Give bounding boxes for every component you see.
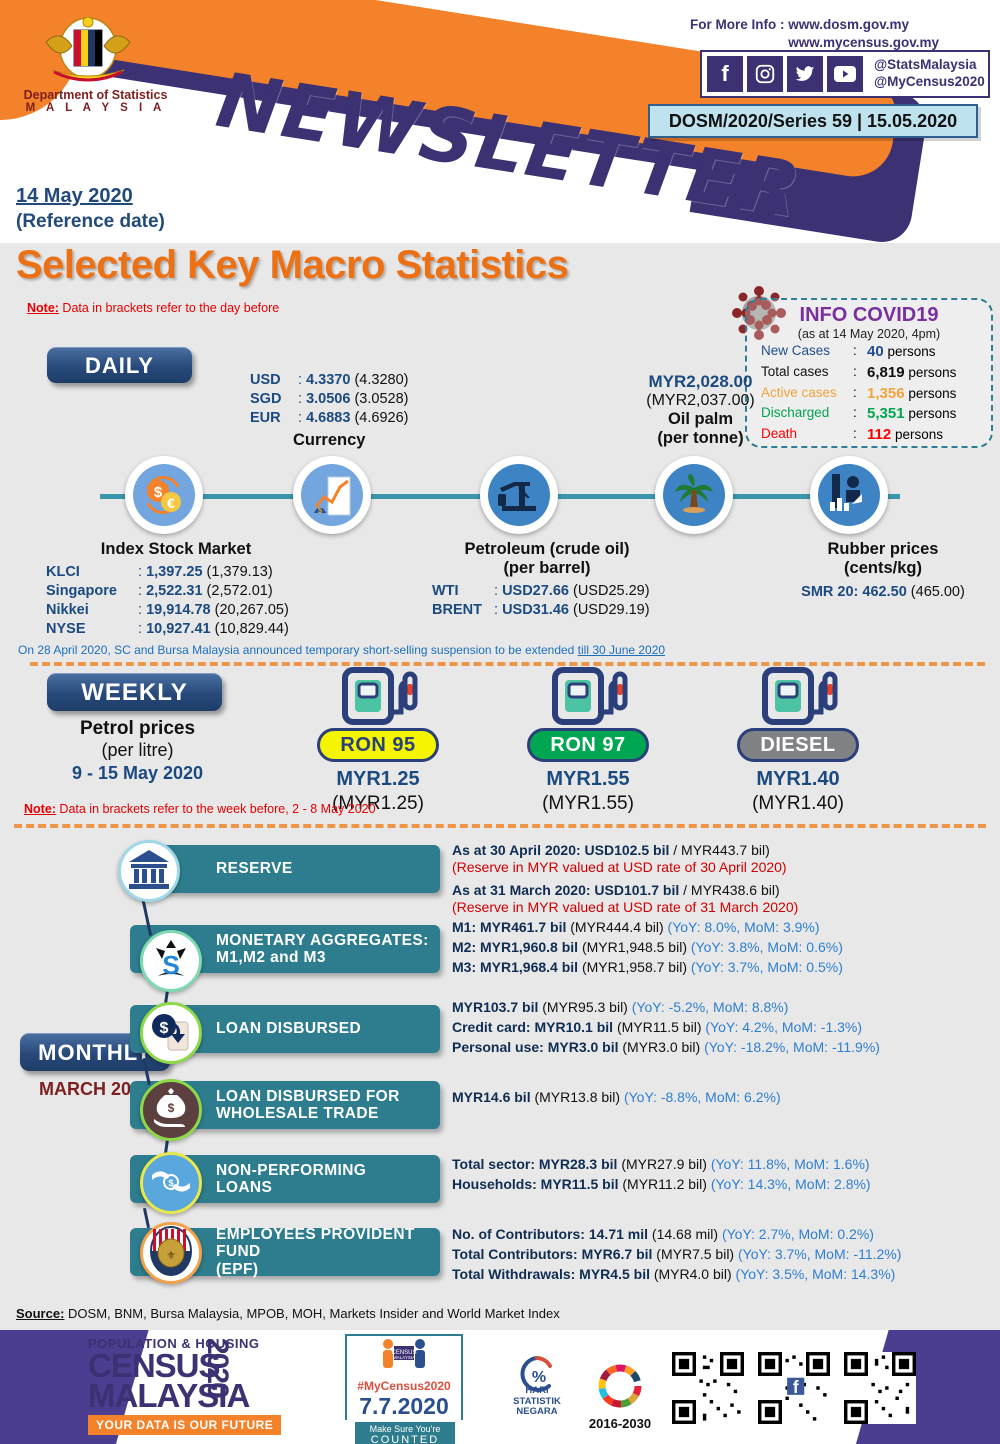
fuel-prev: (MYR1.55) bbox=[523, 793, 653, 815]
petrol-period: 9 - 15 May 2020 bbox=[40, 763, 235, 784]
monthly-value-main: Personal use: MYR3.0 bil bbox=[452, 1039, 619, 1055]
covid-row-colon: : bbox=[853, 385, 867, 404]
covid-row-value: 40 persons bbox=[867, 343, 935, 362]
daily-note-text: Data in brackets refer to the day before bbox=[59, 301, 279, 315]
monthly-value-line: (Reserve in MYR valued at USD rate of 31… bbox=[452, 898, 798, 918]
stat-label: EUR bbox=[250, 409, 298, 428]
monthly-value-yoy: (YoY: 3.5%, MoM: 14.3%) bbox=[736, 1266, 896, 1282]
stat-colon: : bbox=[138, 621, 146, 637]
monthly-value-main: MYR103.7 bil bbox=[452, 999, 538, 1015]
stat-value: USD27.66 bbox=[502, 583, 569, 599]
oil-palm-caption-2: (per tonne) bbox=[613, 429, 788, 448]
stat-label: SGD bbox=[250, 390, 298, 409]
monthly-value-main: As at 30 April 2020: USD102.5 bil bbox=[452, 842, 669, 858]
non-performing-loans-icon: $ bbox=[148, 1158, 194, 1209]
palm-tree-node bbox=[655, 456, 733, 534]
monthly-value-yoy: (YoY: 2.7%, MoM: 0.2%) bbox=[722, 1226, 874, 1242]
stat-row: EUR: 4.6883 (4.6926) bbox=[250, 409, 408, 428]
covid-row: Discharged:5,351 persons bbox=[761, 405, 991, 424]
monthly-value-main: M1: MYR461.7 bil bbox=[452, 919, 566, 935]
oil-rig-icon bbox=[488, 464, 550, 526]
monthly-value-prev: (MYR27.9 bil) bbox=[621, 1156, 707, 1172]
facebook-icon[interactable]: f bbox=[707, 56, 743, 92]
monthly-value-tail: / MYR443.7 bil) bbox=[669, 842, 769, 858]
census-people-icon: CENSUS MALAYSIA bbox=[374, 1336, 434, 1372]
monthly-value-line: Credit card: MYR10.1 bil (MYR11.5 bil) (… bbox=[452, 1018, 880, 1038]
monthly-item-label-2: M1,M2 and M3 bbox=[216, 949, 326, 966]
percent-swirl-icon: % bbox=[513, 1354, 561, 1394]
index-stock-market-rows: KLCI: 1,397.25 (1,379.13)Singapore: 2,52… bbox=[46, 563, 306, 640]
page-header: NEWSLETTER Department of Statistics M A … bbox=[0, 0, 1000, 243]
social-handles: @StatsMalaysia @MyCensus2020 bbox=[874, 57, 985, 91]
stat-label: Singapore bbox=[46, 582, 138, 601]
covid-row-unit: persons bbox=[908, 365, 956, 380]
monthly-value-note: (Reserve in MYR valued at USD rate of 31… bbox=[452, 899, 798, 915]
monthly-value-line: M1: MYR461.7 bil (MYR444.4 bil) (YoY: 8.… bbox=[452, 918, 843, 938]
dosm-caption: Department of Statistics M A L A Y S I A bbox=[8, 88, 183, 116]
monthly-value-line: (Reserve in MYR valued at USD rate of 30… bbox=[452, 858, 798, 878]
covid-row-value: 6,819 persons bbox=[867, 364, 956, 383]
monthly-value-line: Total Withdrawals: MYR4.5 bil (MYR4.0 bi… bbox=[452, 1265, 901, 1285]
covid-row-value: 112 persons bbox=[867, 426, 943, 445]
short-selling-link[interactable]: till 30 June 2020 bbox=[578, 643, 665, 657]
rubber-tapper-node bbox=[810, 456, 888, 534]
dosm-url[interactable]: www.dosm.gov.my bbox=[788, 17, 909, 32]
weekly-title-block: Petrol prices (per litre) 9 - 15 May 202… bbox=[40, 718, 235, 784]
rubber-prev: (465.00) bbox=[911, 584, 965, 600]
palm-tree-icon bbox=[663, 464, 725, 526]
stat-value: 4.3370 bbox=[306, 372, 350, 388]
bank-building-icon-node bbox=[118, 840, 180, 902]
stat-row: WTI: USD27.66 (USD25.29) bbox=[432, 582, 662, 601]
daily-badge: DAILY bbox=[47, 347, 192, 383]
petroleum-rows: WTI: USD27.66 (USD25.29)BRENT: USD31.46 … bbox=[432, 582, 662, 620]
sdg-logo: 2016-2030 bbox=[580, 1360, 660, 1431]
stat-colon: : bbox=[494, 602, 502, 618]
svg-text:$: $ bbox=[168, 1101, 175, 1115]
monthly-value-main: Households: MYR11.5 bil bbox=[452, 1176, 618, 1192]
loan-disbursed-icon-node: $ bbox=[140, 1002, 202, 1064]
fuel-card: RON 97MYR1.55(MYR1.55) bbox=[523, 666, 653, 815]
covid-title: INFO COVID19 bbox=[747, 304, 991, 327]
money-supply-icon-node: S bbox=[140, 930, 202, 992]
monthly-value-line: No. of Contributors: 14.71 mil (14.68 mi… bbox=[452, 1225, 901, 1245]
svg-text:f: f bbox=[793, 1377, 799, 1397]
svg-text:MALAYSIA: MALAYSIA bbox=[393, 1355, 415, 1360]
index-stock-market-block: Index Stock Market KLCI: 1,397.25 (1,379… bbox=[46, 540, 306, 640]
fuel-price: MYR1.40 bbox=[733, 768, 863, 791]
short-selling-text: On 28 April 2020, SC and Bursa Malaysia … bbox=[18, 643, 578, 657]
monthly-item-label-1: MONETARY AGGREGATES: bbox=[216, 932, 429, 949]
monthly-value-prev: (MYR1,948.5 bil) bbox=[582, 939, 687, 955]
covid-row-value: 5,351 persons bbox=[867, 405, 956, 424]
monthly-value-note: (Reserve in MYR valued at USD rate of 30… bbox=[452, 859, 787, 875]
mycensus-date: 7.7.2020 bbox=[347, 1393, 461, 1420]
stat-value: 2,522.31 bbox=[146, 583, 202, 599]
stat-value: 3.0506 bbox=[306, 391, 350, 407]
monthly-item-label-2: WHOLESALE TRADE bbox=[216, 1105, 379, 1122]
fuel-card: DIESELMYR1.40(MYR1.40) bbox=[733, 666, 863, 815]
source-line: Source: DOSM, BNM, Bursa Malaysia, MPOB,… bbox=[16, 1306, 560, 1321]
census-tagline: YOUR DATA IS OUR FUTURE bbox=[88, 1415, 281, 1435]
monthly-item-values: MYR103.7 bil (MYR95.3 bil) (YoY: -5.2%, … bbox=[452, 998, 880, 1058]
covid-row-unit: persons bbox=[887, 344, 935, 359]
monthly-value-prev: (MYR3.0 bil) bbox=[622, 1039, 700, 1055]
bank-building-icon bbox=[126, 846, 172, 897]
covid-row-colon: : bbox=[853, 343, 867, 362]
monthly-value-yoy: (YoY: 3.7%, MoM: -11.2%) bbox=[738, 1246, 901, 1262]
svg-text:$: $ bbox=[154, 484, 163, 501]
oil-rig-node bbox=[480, 456, 558, 534]
monthly-value-main: Total Withdrawals: MYR4.5 bil bbox=[452, 1266, 650, 1282]
monthly-value-yoy: (YoY: -8.8%, MoM: 6.2%) bbox=[624, 1089, 781, 1105]
fuel-badge: DIESEL bbox=[737, 728, 859, 762]
stat-row: SGD: 3.0506 (3.0528) bbox=[250, 390, 408, 409]
monthly-item-label-2: LOANS bbox=[216, 1179, 272, 1196]
stat-prev: (2,572.01) bbox=[207, 583, 273, 599]
monthly-item-values: MYR14.6 bil (MYR13.8 bil) (YoY: -8.8%, M… bbox=[452, 1088, 781, 1108]
mycensus-logo: CENSUS MALAYSIA #MyCensus2020 7.7.2020 bbox=[345, 1334, 463, 1420]
monthly-value-tail: / MYR438.6 bil) bbox=[679, 882, 779, 898]
source-text: DOSM, BNM, Bursa Malaysia, MPOB, MOH, Ma… bbox=[64, 1306, 559, 1321]
monthly-value-line: Total Contributors: MYR6.7 bil (MYR7.5 b… bbox=[452, 1245, 901, 1265]
monthly-value-yoy: (YoY: 11.8%, MoM: 1.6%) bbox=[711, 1156, 870, 1172]
oil-palm-value: MYR2,028.00 bbox=[613, 372, 788, 392]
monthly-item-values: M1: MYR461.7 bil (MYR444.4 bil) (YoY: 8.… bbox=[452, 918, 843, 978]
instagram-icon[interactable] bbox=[747, 56, 783, 92]
social-links-box: f @StatsMalaysia @MyCensus2020 bbox=[700, 50, 990, 98]
currency-block: USD: 4.3370 (4.3280)SGD: 3.0506 (3.0528)… bbox=[250, 371, 408, 450]
monthly-value-line: MYR103.7 bil (MYR95.3 bil) (YoY: -5.2%, … bbox=[452, 998, 880, 1018]
loan-disbursed-icon: $ bbox=[148, 1008, 194, 1059]
daily-note: Note: Data in brackets refer to the day … bbox=[27, 301, 279, 315]
currency-rows: USD: 4.3370 (4.3280)SGD: 3.0506 (3.0528)… bbox=[250, 371, 408, 428]
svg-text:$: $ bbox=[160, 1020, 169, 1037]
fuel-pump-icon bbox=[523, 666, 653, 728]
reference-date-label: (Reference date) bbox=[16, 211, 165, 233]
fuel-pump-icon bbox=[313, 666, 443, 728]
monthly-value-main: Credit card: MYR10.1 bil bbox=[452, 1019, 613, 1035]
mycensus-url[interactable]: www.mycensus.gov.my bbox=[788, 35, 939, 50]
stat-row: Nikkei: 19,914.78 (20,267.05) bbox=[46, 601, 306, 620]
counted-banner: Make Sure You're COUNTED bbox=[355, 1422, 455, 1444]
weekly-note: Note: Data in brackets refer to the week… bbox=[24, 802, 376, 816]
stat-colon: : bbox=[298, 372, 306, 388]
monthly-value-main: Total Contributors: MYR6.7 bil bbox=[452, 1246, 652, 1262]
stat-colon: : bbox=[138, 602, 146, 618]
monthly-value-prev: (MYR4.0 bil) bbox=[654, 1266, 732, 1282]
monthly-item-values: As at 30 April 2020: USD102.5 bil / MYR4… bbox=[452, 838, 798, 918]
stat-prev: (4.6926) bbox=[354, 410, 408, 426]
daily-note-label: Note: bbox=[27, 301, 59, 315]
monthly-value-prev: (MYR444.4 bil) bbox=[570, 919, 663, 935]
svg-text:€: € bbox=[167, 495, 175, 511]
currency-exchange-icon: $ € bbox=[133, 464, 195, 526]
monthly-value-yoy: (YoY: -5.2%, MoM: 8.8%) bbox=[632, 999, 789, 1015]
series-badge: DOSM/2020/Series 59 | 15.05.2020 bbox=[648, 104, 978, 138]
money-supply-icon: S bbox=[148, 936, 194, 987]
monthly-item-label-1: EMPLOYEES PROVIDENT FUND bbox=[216, 1226, 415, 1260]
monthly-value-line: MYR14.6 bil (MYR13.8 bil) (YoY: -8.8%, M… bbox=[452, 1088, 781, 1108]
qr-code-facebook-icon[interactable]: f bbox=[758, 1352, 830, 1424]
currency-exchange-node: $ € bbox=[125, 456, 203, 534]
covid-row-value: 1,356 persons bbox=[867, 385, 956, 404]
covid-row-colon: : bbox=[853, 426, 867, 445]
more-info-label: For More Info : bbox=[690, 17, 785, 32]
svg-text:$: $ bbox=[168, 1178, 173, 1188]
covid-subtitle: (as at 14 May 2020, 4pm) bbox=[747, 327, 991, 341]
fuel-pump-icon bbox=[733, 666, 863, 728]
monthly-value-yoy: (YoY: 3.7%, MoM: 0.5%) bbox=[691, 959, 843, 975]
stat-prev: (10,829.44) bbox=[215, 621, 289, 637]
non-performing-loans-icon-node: $ bbox=[140, 1152, 202, 1214]
fuel-card: RON 95MYR1.25(MYR1.25) bbox=[313, 666, 443, 815]
monthly-value-line: Households: MYR11.5 bil (MYR11.2 bil) (Y… bbox=[452, 1175, 871, 1195]
covid-row: Total cases:6,819 persons bbox=[761, 364, 991, 383]
epf-logo-icon-node: ⚜ bbox=[140, 1222, 202, 1284]
stat-label: WTI bbox=[432, 582, 494, 601]
fuel-badge: RON 97 bbox=[527, 728, 649, 762]
handle-statsmalaysia: @StatsMalaysia bbox=[874, 57, 985, 74]
stat-label: Nikkei bbox=[46, 601, 138, 620]
qr-code-dosm-icon[interactable] bbox=[672, 1352, 744, 1424]
covid-row-unit: persons bbox=[895, 427, 943, 442]
monthly-value-prev: (MYR95.3 bil) bbox=[542, 999, 628, 1015]
stat-value: USD31.46 bbox=[502, 602, 569, 618]
weekly-note-text: Data in brackets refer to the week befor… bbox=[56, 802, 376, 816]
svg-text:⚜: ⚜ bbox=[166, 1250, 176, 1262]
monthly-value-yoy: (YoY: 4.2%, MoM: -1.3%) bbox=[705, 1019, 862, 1035]
rubber-caption-1: Rubber prices bbox=[768, 540, 998, 559]
weekly-note-label: Note: bbox=[24, 802, 56, 816]
monthly-value-main: Total sector: MYR28.3 bil bbox=[452, 1156, 617, 1172]
stock-chart-node: $ bbox=[293, 456, 371, 534]
stat-prev: (3.0528) bbox=[354, 391, 408, 407]
stat-row: NYSE: 10,927.41 (10,829.44) bbox=[46, 620, 306, 639]
epf-logo-icon: ⚜ bbox=[148, 1226, 194, 1281]
money-bag-hand-icon: $ bbox=[148, 1085, 194, 1136]
stat-prev: (4.3280) bbox=[354, 372, 408, 388]
stat-value: 4.6883 bbox=[306, 410, 350, 426]
qr-code-mycensus-icon[interactable] bbox=[844, 1352, 916, 1424]
stat-row: Singapore: 2,522.31 (2,572.01) bbox=[46, 582, 306, 601]
stat-prev: (USD25.29) bbox=[573, 583, 650, 599]
stat-row: BRENT: USD31.46 (USD29.19) bbox=[432, 601, 662, 620]
page-footer: POPULATION & HOUSING CENSUS MALAYSIA YOU… bbox=[0, 1330, 1000, 1444]
stat-colon: : bbox=[298, 410, 306, 426]
monthly-value-prev: (MYR7.5 bil) bbox=[656, 1246, 734, 1262]
covid-row-colon: : bbox=[853, 364, 867, 383]
fuel-badge: RON 95 bbox=[317, 728, 439, 762]
petroleum-caption-2: (per barrel) bbox=[432, 559, 662, 578]
monthly-value-prev: (14.68 mil) bbox=[652, 1226, 718, 1242]
svg-text:S: S bbox=[162, 950, 179, 980]
covid-row-unit: persons bbox=[908, 386, 956, 401]
monthly-value-prev: (MYR1,958.7 bil) bbox=[582, 959, 687, 975]
malaysia-coat-of-arms-icon bbox=[28, 8, 148, 96]
fuel-prev: (MYR1.40) bbox=[733, 793, 863, 815]
page-title: Selected Key Macro Statistics bbox=[16, 243, 568, 288]
rubber-value: SMR 20: 462.50 bbox=[801, 584, 907, 600]
twitter-icon[interactable] bbox=[787, 56, 823, 92]
petrol-unit: (per litre) bbox=[40, 740, 235, 761]
currency-caption: Currency bbox=[250, 431, 408, 450]
monthly-value-main: As at 31 March 2020: USD101.7 bil bbox=[452, 882, 679, 898]
stat-colon: : bbox=[138, 583, 146, 599]
mycensus-hashtag: #MyCensus2020 bbox=[347, 1379, 461, 1393]
monthly-value-prev: (MYR13.8 bil) bbox=[534, 1089, 620, 1105]
sdg-years: 2016-2030 bbox=[580, 1416, 660, 1431]
stock-chart-icon: $ bbox=[301, 464, 363, 526]
covid-row-unit: persons bbox=[908, 406, 956, 421]
covid-row: New Cases:40 persons bbox=[761, 343, 991, 362]
rubber-tapper-icon bbox=[818, 464, 880, 526]
stat-colon: : bbox=[494, 583, 502, 599]
handle-mycensus: @MyCensus2020 bbox=[874, 74, 985, 91]
oil-palm-prev: (MYR2,037.00) bbox=[613, 392, 788, 410]
stat-colon: : bbox=[138, 564, 146, 580]
monthly-item-label-1: RESERVE bbox=[216, 860, 293, 877]
monthly-value-yoy: (YoY: -18.2%, MoM: -11.9%) bbox=[704, 1039, 880, 1055]
monthly-value-prev: (MYR11.2 bil) bbox=[622, 1176, 707, 1192]
oil-palm-block: MYR2,028.00 (MYR2,037.00) Oil palm (per … bbox=[613, 372, 788, 448]
monthly-value-prev: (MYR11.5 bil) bbox=[617, 1019, 702, 1035]
monthly-item-label-1: LOAN DISBURSED bbox=[216, 1020, 361, 1037]
rubber-block: Rubber prices (cents/kg) SMR 20: 462.50 … bbox=[768, 540, 998, 602]
monthly-value-line: Personal use: MYR3.0 bil (MYR3.0 bil) (Y… bbox=[452, 1038, 880, 1058]
short-selling-note: On 28 April 2020, SC and Bursa Malaysia … bbox=[18, 643, 665, 657]
fuel-price: MYR1.55 bbox=[523, 768, 653, 791]
index-stock-market-caption: Index Stock Market bbox=[46, 540, 306, 559]
stat-prev: (20,267.05) bbox=[215, 602, 289, 618]
dosm-org-country: M A L A Y S I A bbox=[8, 102, 183, 115]
petroleum-block: Petroleum (crude oil) (per barrel) WTI: … bbox=[432, 540, 662, 620]
monthly-value-yoy: (YoY: 14.3%, MoM: 2.8%) bbox=[711, 1176, 871, 1192]
rubber-value-row: SMR 20: 462.50 (465.00) bbox=[768, 583, 998, 602]
hsn-line3: NEGARA bbox=[497, 1407, 577, 1418]
stat-label: USD bbox=[250, 371, 298, 390]
petrol-prices-title: Petrol prices bbox=[40, 718, 235, 740]
stat-label: BRENT bbox=[432, 601, 494, 620]
petroleum-caption-1: Petroleum (crude oil) bbox=[432, 540, 662, 559]
rubber-caption-2: (cents/kg) bbox=[768, 559, 998, 578]
dosm-org-name: Department of Statistics bbox=[8, 88, 183, 102]
monthly-value-main: M3: MYR1,968.4 bil bbox=[452, 959, 578, 975]
monthly-value-line: M3: MYR1,968.4 bil (MYR1,958.7 bil) (YoY… bbox=[452, 958, 843, 978]
sdg-wheel-icon bbox=[594, 1360, 646, 1412]
covid-row: Active cases:1,356 persons bbox=[761, 385, 991, 404]
hari-statistik-negara-logo: % HARI STATISTIK NEGARA 20 OCT bbox=[497, 1352, 577, 1444]
stat-prev: (1,379.13) bbox=[207, 564, 273, 580]
monthly-item-label-1: LOAN DISBURSED FOR bbox=[216, 1088, 400, 1105]
stat-value: 1,397.25 bbox=[146, 564, 202, 580]
counted-big: COUNTED bbox=[355, 1434, 455, 1444]
monthly-value-yoy: (YoY: 3.8%, MoM: 0.6%) bbox=[691, 939, 843, 955]
monthly-value-line: Total sector: MYR28.3 bil (MYR27.9 bil) … bbox=[452, 1155, 871, 1175]
covid-row-label: New Cases bbox=[761, 343, 853, 362]
monthly-value-main: MYR14.6 bil bbox=[452, 1089, 531, 1105]
stat-prev: (USD29.19) bbox=[573, 602, 650, 618]
monthly-item-label-1: NON-PERFORMING bbox=[216, 1162, 366, 1179]
money-bag-hand-icon-node: $ bbox=[140, 1079, 202, 1141]
monthly-value-line: M2: MYR1,960.8 bil (MYR1,948.5 bil) (YoY… bbox=[452, 938, 843, 958]
divider-weekly-monthly bbox=[14, 824, 986, 828]
youtube-icon[interactable] bbox=[827, 56, 863, 92]
covid-row: Death:112 persons bbox=[761, 426, 991, 445]
monthly-item-label-2: (EPF) bbox=[216, 1261, 258, 1278]
monthly-value-yoy: (YoY: 8.0%, MoM: 3.9%) bbox=[668, 919, 820, 935]
svg-text:%: % bbox=[532, 1369, 546, 1386]
stat-row: KLCI: 1,397.25 (1,379.13) bbox=[46, 563, 306, 582]
monthly-value-main: M2: MYR1,960.8 bil bbox=[452, 939, 578, 955]
svg-text:$: $ bbox=[318, 506, 323, 515]
monthly-item-values: No. of Contributors: 14.71 mil (14.68 mi… bbox=[452, 1225, 901, 1285]
stat-value: 10,927.41 bbox=[146, 621, 211, 637]
more-info-block: For More Info : www.dosm.gov.my www.myce… bbox=[690, 16, 990, 52]
source-label: Source: bbox=[16, 1306, 64, 1321]
counted-small: Make Sure You're bbox=[355, 1424, 455, 1434]
monthly-item-values: Total sector: MYR28.3 bil (MYR27.9 bil) … bbox=[452, 1155, 871, 1195]
monthly-value-main: No. of Contributors: 14.71 mil bbox=[452, 1226, 648, 1242]
stat-colon: : bbox=[298, 391, 306, 407]
reference-date: 14 May 2020 bbox=[16, 185, 133, 208]
stat-label: KLCI bbox=[46, 563, 138, 582]
census-year: 2020 bbox=[200, 1338, 234, 1397]
covid-row-colon: : bbox=[853, 405, 867, 424]
fuel-price: MYR1.25 bbox=[313, 768, 443, 791]
stat-row: USD: 4.3370 (4.3280) bbox=[250, 371, 408, 390]
stat-label: NYSE bbox=[46, 620, 138, 639]
oil-palm-caption-1: Oil palm bbox=[613, 410, 788, 429]
stat-value: 19,914.78 bbox=[146, 602, 211, 618]
weekly-badge: WEEKLY bbox=[47, 673, 222, 711]
